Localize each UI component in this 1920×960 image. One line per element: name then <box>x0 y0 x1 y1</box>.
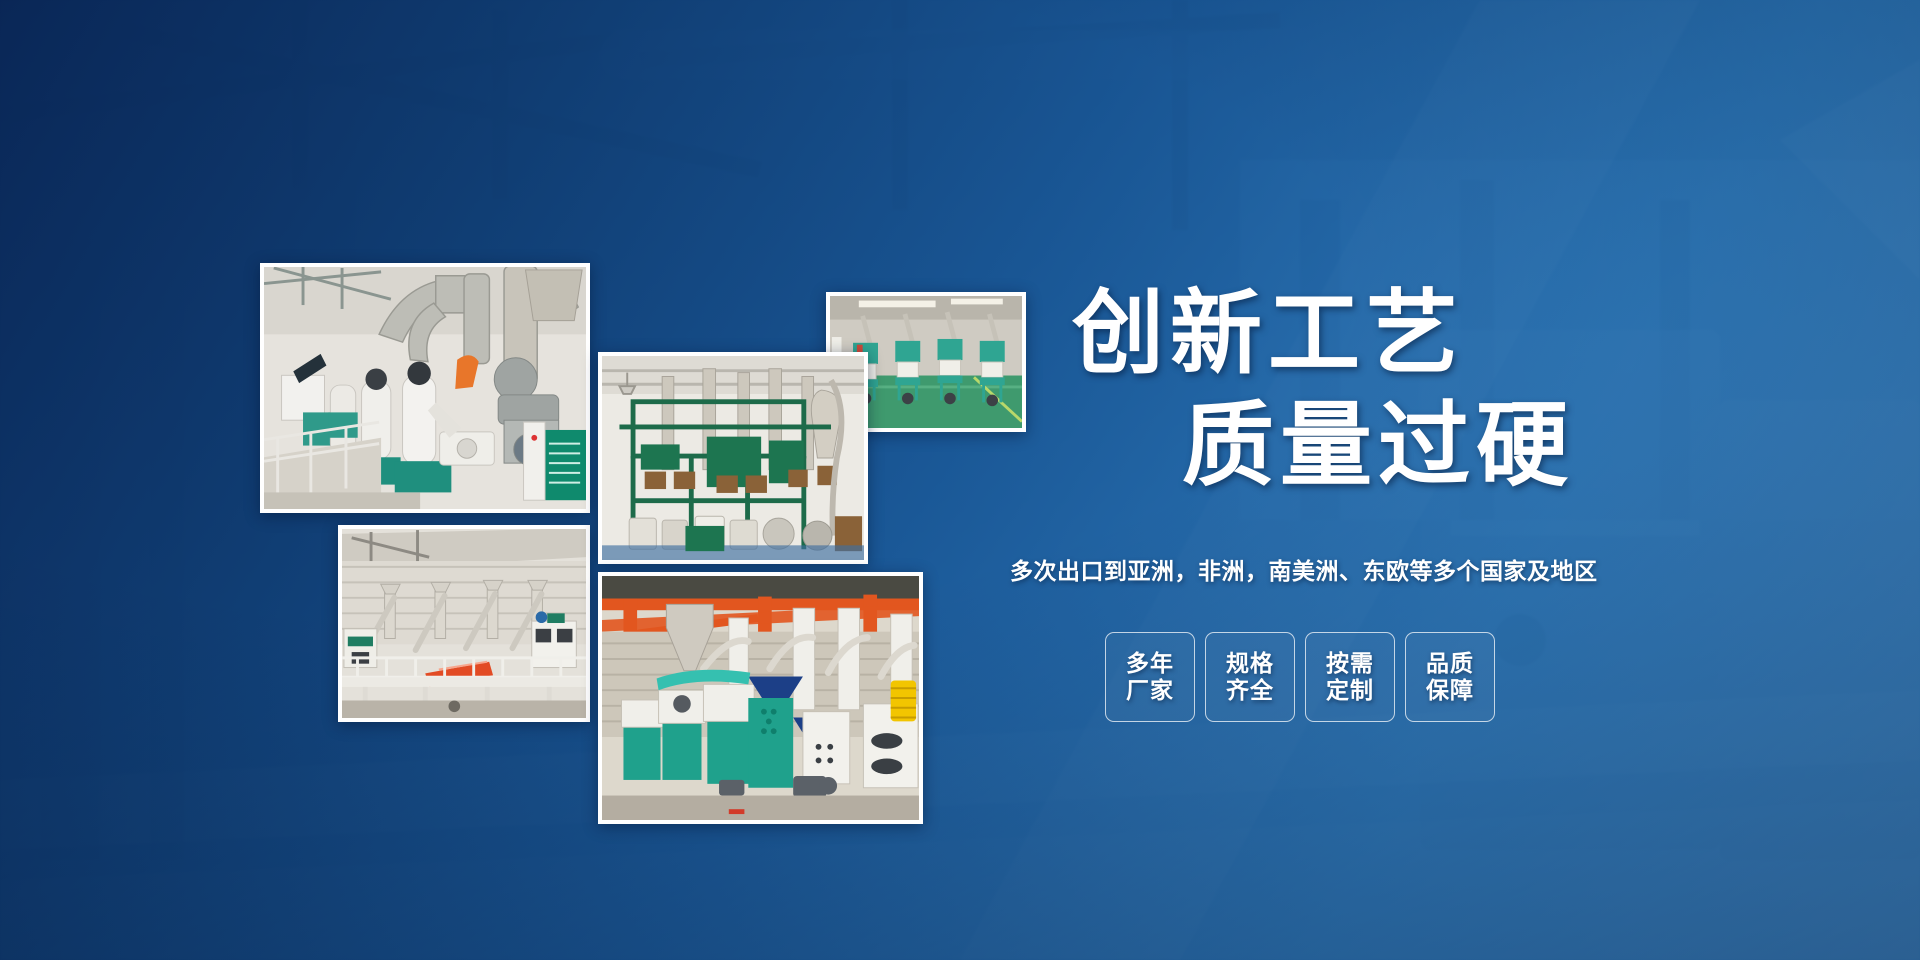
badge-line-1: 多年 <box>1126 650 1174 677</box>
photo-inner <box>264 267 586 509</box>
headline-line-1: 创新工艺 <box>1072 288 1464 380</box>
feature-badge-quality[interactable]: 品质 保障 <box>1405 632 1495 722</box>
feature-badge-list: 多年 厂家 规格 齐全 按需 定制 品质 保障 <box>1105 632 1495 722</box>
feature-badge-years[interactable]: 多年 厂家 <box>1105 632 1195 722</box>
collage-photo-grain-processing-line[interactable] <box>338 525 590 722</box>
subtitle: 多次出口到亚洲，非洲，南美洲、东欧等多个国家及地区 <box>1010 552 1598 586</box>
badge-line-2: 保障 <box>1426 677 1474 704</box>
feature-badge-specs[interactable]: 规格 齐全 <box>1205 632 1295 722</box>
collage-photo-green-flour-mill[interactable] <box>598 352 868 564</box>
badge-line-2: 齐全 <box>1226 677 1274 704</box>
photo-inner <box>602 576 919 820</box>
badge-line-1: 按需 <box>1326 650 1374 677</box>
feature-badge-custom[interactable]: 按需 定制 <box>1305 632 1395 722</box>
badge-line-2: 定制 <box>1326 677 1374 704</box>
photo-collage <box>0 0 1000 960</box>
badge-line-1: 规格 <box>1226 650 1274 677</box>
headline-line-2: 质量过硬 <box>1182 400 1574 492</box>
promo-banner: 创新工艺 质量过硬 多次出口到亚洲，非洲，南美洲、东欧等多个国家及地区 多年 厂… <box>0 0 1920 960</box>
badge-line-1: 品质 <box>1426 650 1474 677</box>
collage-photo-teal-mills-orange-beams[interactable] <box>598 572 923 824</box>
photo-inner <box>342 529 586 718</box>
copy-block: 创新工艺 质量过硬 多次出口到亚洲，非洲，南美洲、东欧等多个国家及地区 多年 厂… <box>1000 240 1830 800</box>
badge-line-2: 厂家 <box>1126 677 1174 704</box>
collage-photo-rice-milling-line[interactable] <box>260 263 590 513</box>
photo-inner <box>602 356 864 560</box>
